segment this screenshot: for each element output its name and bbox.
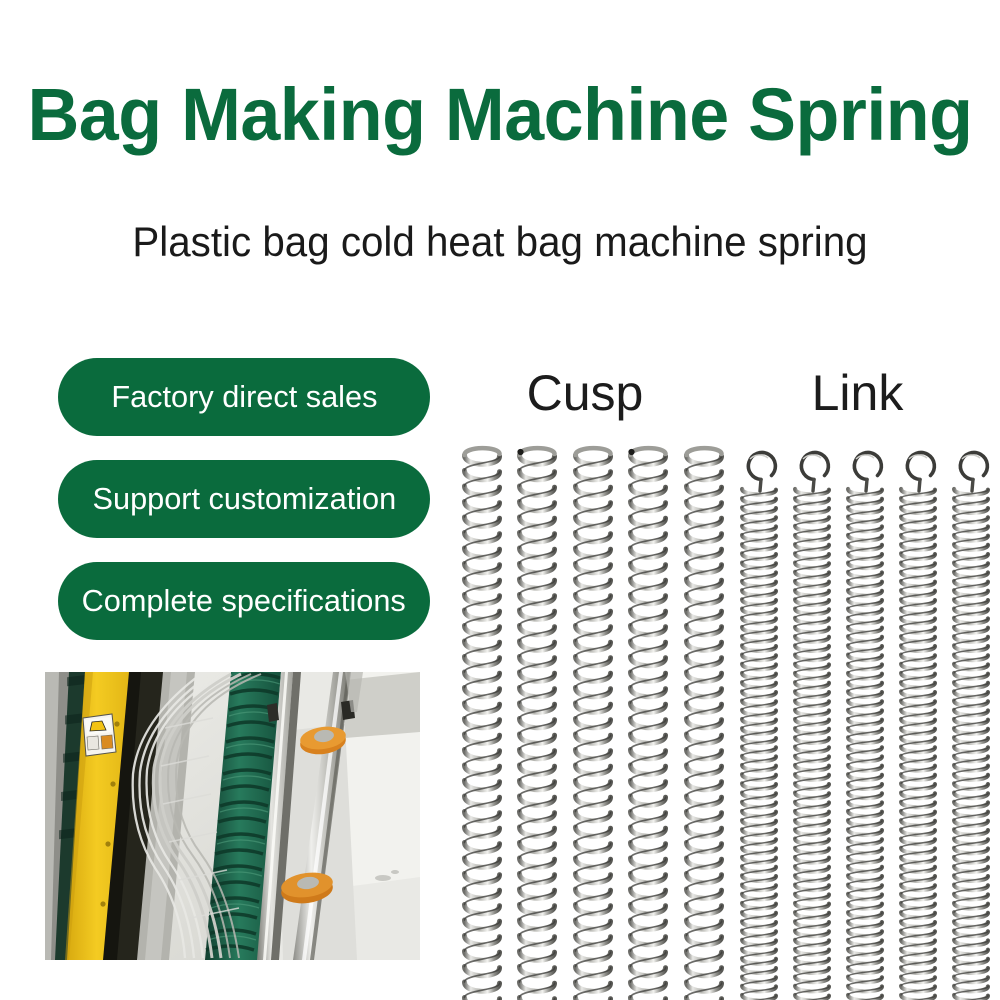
page-title: Bag Making Machine Spring: [15, 72, 985, 158]
product-banner: Bag Making Machine Spring Plastic bag co…: [0, 0, 1000, 1000]
spring-link-3: [846, 443, 884, 1000]
warning-label: [83, 714, 116, 756]
spring-group-cusp: [462, 443, 724, 1000]
feature-pill-label: Factory direct sales: [111, 380, 377, 414]
spring-cusp-5: [684, 443, 724, 1000]
spring-link-5: [952, 443, 990, 1000]
spring-cusp-1: [462, 443, 502, 1000]
feature-pill-support-customization[interactable]: Support customization: [58, 460, 430, 538]
product-group-caption-link: Link: [745, 364, 970, 422]
feature-pill-factory-direct-sales[interactable]: Factory direct sales: [58, 358, 430, 436]
feature-pill-list: Factory direct sales Support customizati…: [58, 358, 430, 664]
product-group-caption-cusp: Cusp: [470, 364, 700, 422]
spring-group-link: [740, 443, 995, 1000]
feature-pill-complete-specifications[interactable]: Complete specifications: [58, 562, 430, 640]
spring-link-2: [793, 443, 831, 1000]
spring-link-1: [740, 443, 778, 1000]
spring-cusp-2: [517, 443, 557, 1000]
page-subtitle: Plastic bag cold heat bag machine spring: [20, 216, 980, 268]
machine-photo: [45, 672, 420, 960]
feature-pill-label: Support customization: [92, 482, 396, 516]
feature-pill-label: Complete specifications: [82, 584, 406, 618]
spring-cusp-4: [628, 443, 668, 1000]
spring-cusp-3: [573, 443, 613, 1000]
spring-link-4: [899, 443, 937, 1000]
